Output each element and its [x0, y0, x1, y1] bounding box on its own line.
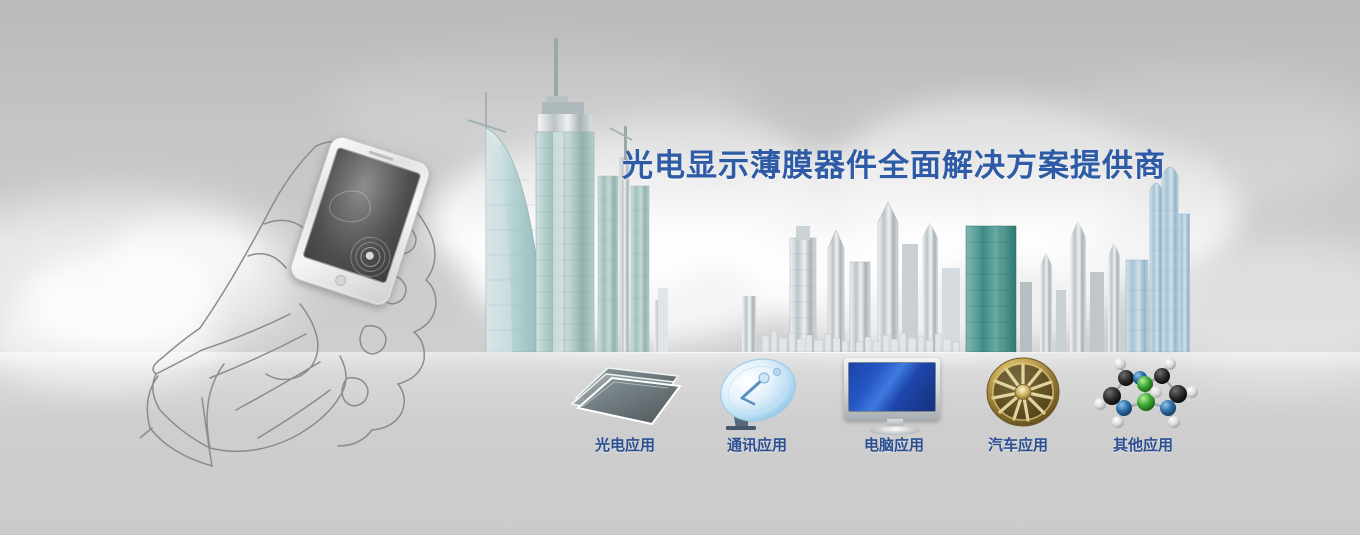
app-label-communication[interactable]: 通讯应用: [682, 434, 832, 455]
icon-slot-computer[interactable]: [830, 352, 960, 432]
swipe-gesture-icon: [328, 188, 373, 224]
icon-slot-optoelectronic[interactable]: [562, 352, 692, 432]
icon-slot-automotive[interactable]: [958, 352, 1088, 432]
glass-sheets-icon: [562, 352, 692, 432]
right-silver-towers: [790, 202, 960, 352]
phone-home-button[interactable]: [334, 274, 348, 288]
monitor-body: [844, 358, 940, 420]
needle-towers: [1020, 220, 1120, 352]
monitor-screen: [848, 362, 936, 412]
molecule-icon: [1082, 352, 1212, 432]
silver-cluster: [654, 288, 756, 352]
satellite-dish-icon: [696, 352, 826, 432]
page-title: 光电显示薄膜器件全面解决方案提供商: [622, 140, 1166, 185]
icon-slot-other[interactable]: [1082, 352, 1212, 432]
app-label-other[interactable]: 其他应用: [1068, 434, 1218, 455]
icon-slot-communication[interactable]: [696, 352, 826, 432]
promo-banner: 光电显示薄膜器件全面解决方案提供商: [0, 0, 1360, 535]
green-block-tower: [966, 226, 1016, 352]
main-tower: [536, 38, 594, 352]
blue-glass-cluster: [1126, 167, 1190, 352]
alloy-wheel-icon: [958, 352, 1088, 432]
app-label-optoelectronic[interactable]: 光电应用: [550, 434, 700, 455]
